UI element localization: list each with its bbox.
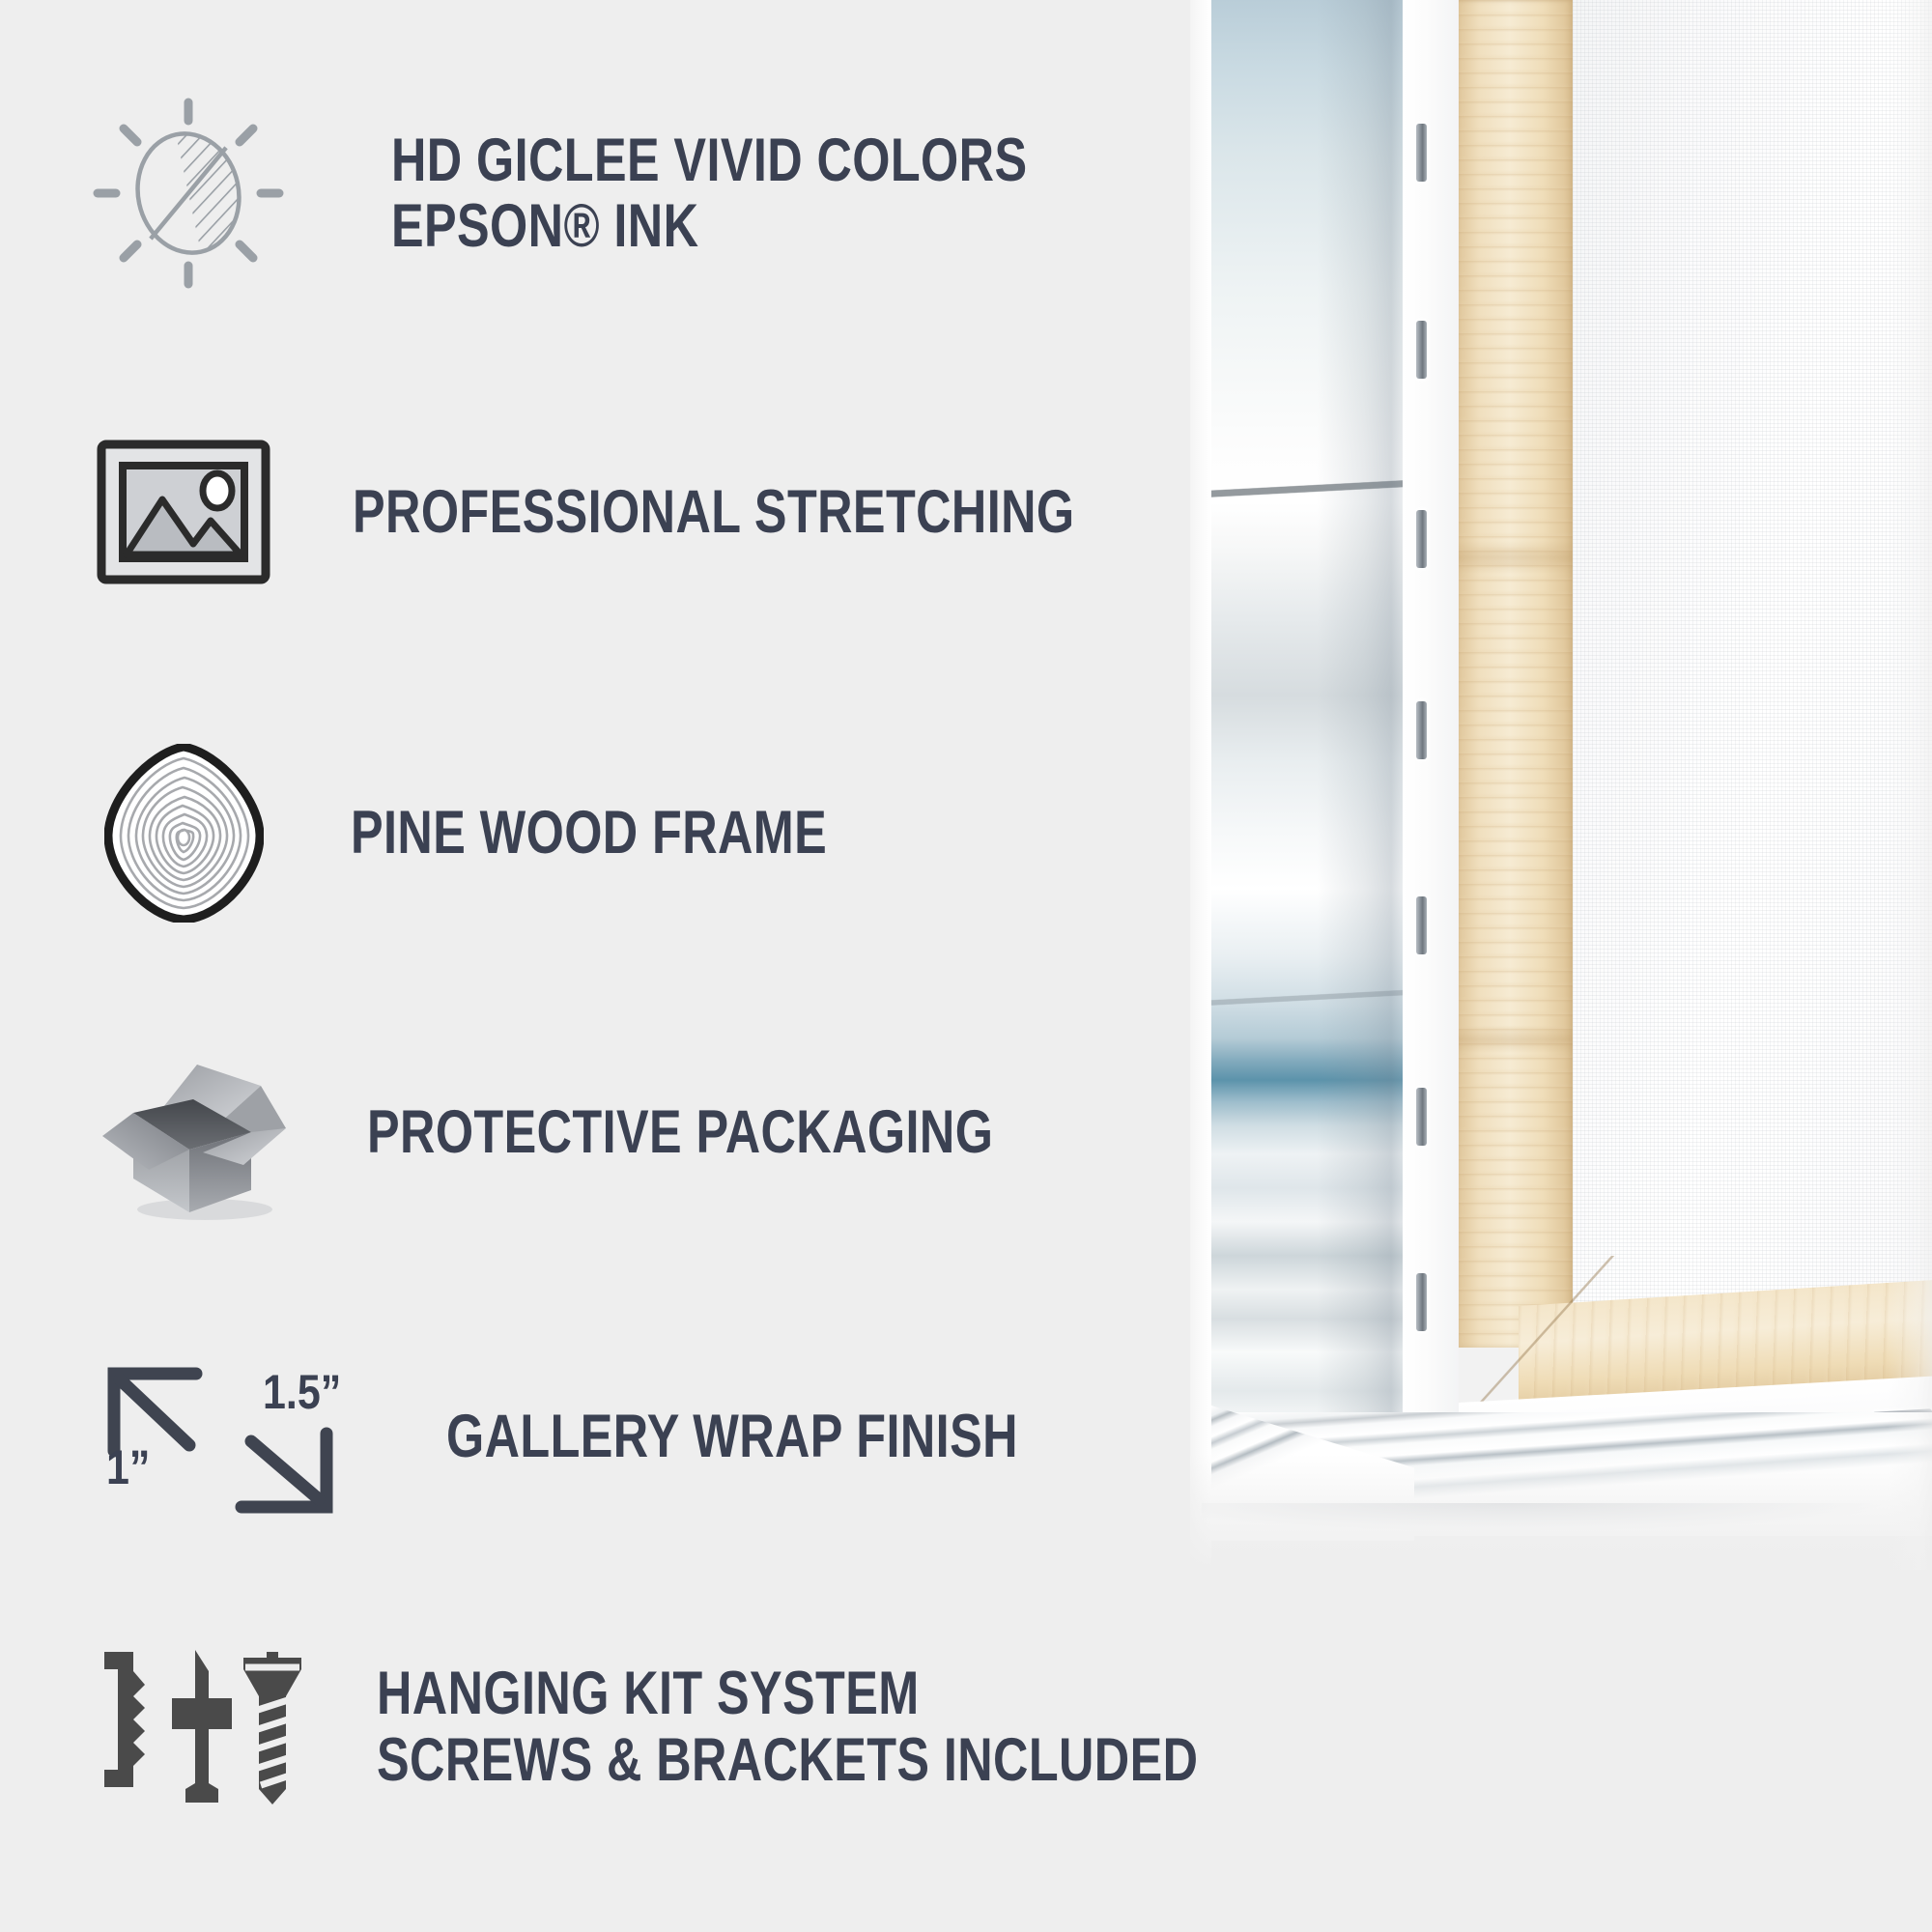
pine-stretcher-bar-vertical (1459, 0, 1573, 1348)
wood-grain-band (1459, 1026, 1573, 1053)
wood-grain-band (1459, 541, 1573, 574)
framed-picture-icon (97, 440, 270, 584)
feature-label-gallery-wrap: GALLERY WRAP FINISH (446, 1404, 1018, 1469)
staple (1416, 124, 1427, 182)
feature-label-hanging-kit-line2: SCREWS & BRACKETS INCLUDED (377, 1727, 1198, 1793)
feature-row-hanging-kit: HANGING KIT SYSTEM SCREWS & BRACKETS INC… (97, 1642, 1404, 1811)
canvas-back-fabric (1573, 0, 1932, 1309)
staple (1416, 321, 1427, 379)
feature-row-giclee: HD GICLEE VIVID COLORS EPSON® INK (92, 97, 1186, 290)
feature-row-packaging: PROTECTIVE PACKAGING (97, 1043, 1150, 1222)
feature-label-giclee: HD GICLEE VIVID COLORS EPSON® INK (391, 128, 1027, 259)
staple (1416, 1273, 1427, 1331)
feature-row-pine-wood: PINE WOOD FRAME (104, 744, 947, 923)
dimension-label-depth-bottom: 1” (106, 1439, 150, 1495)
stretched-canvas-back-corner-photo (1190, 0, 1932, 1570)
staple (1416, 1088, 1427, 1146)
feature-list: HD GICLEE VIVID COLORS EPSON® INK PROFES… (0, 0, 1198, 1932)
feature-label-giclee-line2: EPSON® INK (391, 193, 1027, 259)
feature-label-stretching: PROFESSIONAL STRETCHING (353, 479, 1075, 545)
infographic-page: HD GICLEE VIVID COLORS EPSON® INK PROFES… (0, 0, 1932, 1932)
staple (1416, 510, 1427, 568)
photo-right-fade (1888, 0, 1932, 1570)
hardware-icon (97, 1642, 304, 1811)
feature-label-hanging-kit: HANGING KIT SYSTEM SCREWS & BRACKETS INC… (377, 1661, 1198, 1792)
sun-icon (92, 97, 285, 290)
feature-label-hanging-kit-line1: HANGING KIT SYSTEM (377, 1660, 920, 1727)
depth-arrows-icon: 1.5” 1” (97, 1352, 377, 1521)
feature-row-gallery-wrap: 1.5” 1” GALLERY WRAP FINISH (97, 1352, 1161, 1521)
dimension-label-depth-top: 1.5” (263, 1364, 341, 1420)
canvas-edge-shading (1211, 0, 1403, 1507)
open-box-icon (97, 1043, 290, 1222)
feature-label-packaging: PROTECTIVE PACKAGING (367, 1099, 993, 1165)
wood-rings-icon (104, 744, 264, 923)
feature-label-giclee-line1: HD GICLEE VIVID COLORS (391, 127, 1027, 194)
feature-row-stretching: PROFESSIONAL STRETCHING (97, 440, 1255, 584)
photo-bottom-fade (1190, 1454, 1932, 1570)
canvas-wrap-strip-vertical (1403, 0, 1459, 1507)
staple (1416, 896, 1427, 954)
staple (1416, 701, 1427, 759)
photo-left-margin (1190, 0, 1211, 1570)
feature-label-pine-wood: PINE WOOD FRAME (351, 800, 827, 866)
